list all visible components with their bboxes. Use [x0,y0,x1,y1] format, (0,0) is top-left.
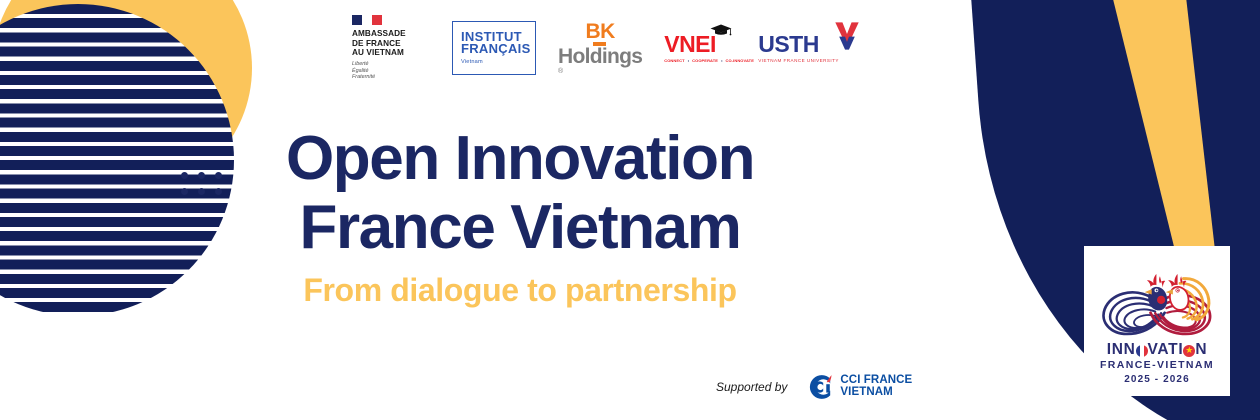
graduation-cap-icon [710,24,732,36]
vnei-name: VNEI [664,33,736,56]
banner-root: AMBASSADE DE FRANCE AU VIETNAM Liberté É… [0,0,1260,420]
registered-trademark-icon: ® [558,68,563,75]
emblem-word-part2: VATI [1148,342,1184,358]
motto-liberte: Liberté [352,61,430,68]
supported-by-label: Supported by [716,380,787,394]
vnei-sep2: • [721,58,722,63]
logo-bk-holdings: BK Holdings ® [558,33,642,63]
vnei-sub2: COOPERATE [692,58,718,63]
bk-holdings-word: Holdings [558,46,642,67]
usth-chevron-icon [834,21,860,51]
emblem-subtitle: FRANCE-VIETNAM [1100,359,1214,371]
emblem-word-part3: N [1195,342,1207,358]
headline-line-2: France Vietnam [0,197,1040,259]
motto-egalite: Égalité [352,68,430,75]
logo-cci-france-vietnam: CCI FRANCE VIETNAM [805,373,912,401]
cci-monogram-icon [805,373,833,401]
headline-block: Open Innovation France Vietnam From dial… [0,128,1040,309]
emblem-wordmark: INN VATI ★ N [1107,342,1208,358]
french-flag-icon [352,15,382,25]
logo-institut-francais: INSTITUT FRANÇAIS Vietnam [452,21,536,75]
motto-fraternite: Fraternité [352,74,430,81]
ambassade-line3: AU VIETNAM [352,48,430,58]
two-roosters-icon [1095,261,1219,341]
cci-line2: VIETNAM [840,387,912,399]
tagline: From dialogue to partnership [0,272,1040,309]
logo-vnei: VNEI CONNECT • COOPERATE • CO-INNOVATE [664,33,736,63]
partner-logo-strip: AMBASSADE DE FRANCE AU VIETNAM Liberté É… [352,16,904,80]
vietnam-flag-disc-icon: ★ [1183,345,1195,357]
headline-line-1: Open Innovation [0,128,1040,190]
bk-mark: BK [586,21,615,42]
usth-tagline: VIETNAM FRANCE UNIVERSITY [758,58,856,63]
logo-ambassade-de-france: AMBASSADE DE FRANCE AU VIETNAM Liberté É… [352,15,430,81]
france-flag-disc-icon [1136,345,1148,357]
emblem-word-part1: INN [1107,342,1136,358]
institut-country: Vietnam [461,59,535,65]
innovation-emblem-card: INN VATI ★ N FRANCE-VIETNAM 2025 - 2026 [1084,246,1230,396]
emblem-years: 2025 - 2026 [1124,374,1189,385]
ambassade-name: AMBASSADE DE FRANCE AU VIETNAM [352,29,430,58]
ambassade-motto: Liberté Égalité Fraternité [352,61,430,81]
vnei-tagline: CONNECT • COOPERATE • CO-INNOVATE [664,58,736,63]
star-icon: ★ [1185,346,1193,355]
ambassade-line2: DE FRANCE [352,39,430,49]
ambassade-line1: AMBASSADE [352,29,430,39]
vnei-sep1: • [688,58,689,63]
cci-wordmark: CCI FRANCE VIETNAM [840,375,912,398]
supported-by-block: Supported by CCI FRANCE VIETNAM [716,373,912,401]
institut-line2: FRANÇAIS [461,43,535,55]
vnei-sub1: CONNECT [664,58,684,63]
vnei-sub3: CO-INNOVATE [725,58,754,63]
logo-usth: USTH VIETNAM FRANCE UNIVERSITY [758,33,856,63]
